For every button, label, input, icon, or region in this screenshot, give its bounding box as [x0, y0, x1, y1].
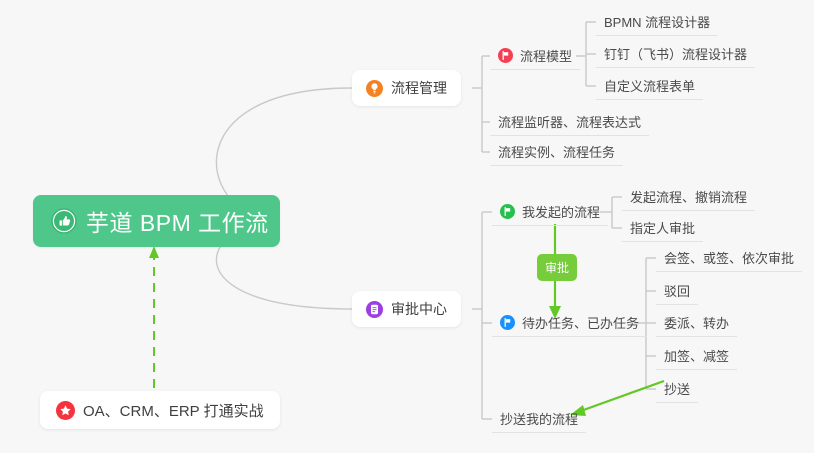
node-bpmn-designer[interactable]: BPMN 流程设计器 — [596, 8, 718, 36]
arrow-footnote-to-root — [149, 246, 159, 388]
node-custom-flow-form[interactable]: 自定义流程表单 — [596, 72, 703, 100]
root-label: 芋道 BPM 工作流 — [86, 204, 269, 238]
node-todo-done-tasks-label: 待办任务、已办任务 — [522, 313, 639, 332]
node-countersign-or-sequential[interactable]: 会签、或签、依次审批 — [656, 244, 802, 272]
node-dingtalk-feishu-designer[interactable]: 钉钉（飞书）流程设计器 — [596, 40, 755, 68]
node-countersign-or-sequential-label: 会签、或签、依次审批 — [664, 248, 794, 267]
badge-approve-label: 审批 — [545, 259, 569, 276]
node-delegate-transfer[interactable]: 委派、转办 — [656, 309, 737, 337]
lightbulb-icon — [366, 80, 383, 97]
node-reject[interactable]: 驳回 — [656, 277, 698, 305]
node-flow-instance-task[interactable]: 流程实例、流程任务 — [490, 138, 623, 166]
node-dingtalk-feishu-designer-label: 钉钉（飞书）流程设计器 — [604, 44, 747, 63]
node-add-remove-sign-label: 加签、减签 — [664, 346, 729, 365]
node-start-cancel-flow-label: 发起流程、撤销流程 — [630, 187, 747, 206]
node-flow-model[interactable]: 流程模型 — [490, 42, 580, 70]
node-cc-to-me-flows-label: 抄送我的流程 — [500, 409, 578, 428]
node-my-initiated-flows-label: 我发起的流程 — [522, 202, 600, 221]
node-approval-center[interactable]: 审批中心 — [352, 291, 461, 327]
flag-circle-icon — [498, 48, 513, 63]
node-todo-done-tasks[interactable]: 待办任务、已办任务 — [492, 309, 647, 337]
flag-circle-icon — [500, 315, 515, 330]
node-flow-listener-expression[interactable]: 流程监听器、流程表达式 — [490, 108, 649, 136]
root-node[interactable]: 芋道 BPM 工作流 — [33, 195, 280, 247]
star-circle-icon — [56, 401, 75, 420]
flag-circle-icon — [500, 204, 515, 219]
node-flow-model-label: 流程模型 — [520, 46, 572, 65]
node-assigned-approver-label: 指定人审批 — [630, 218, 695, 237]
node-cc[interactable]: 抄送 — [656, 375, 698, 403]
node-my-initiated-flows[interactable]: 我发起的流程 — [492, 198, 608, 226]
node-add-remove-sign[interactable]: 加签、减签 — [656, 342, 737, 370]
node-flow-management-label: 流程管理 — [391, 78, 447, 98]
node-cc-label: 抄送 — [664, 379, 690, 398]
node-start-cancel-flow[interactable]: 发起流程、撤销流程 — [622, 183, 755, 211]
node-reject-label: 驳回 — [664, 281, 690, 300]
node-oa-crm-erp-practice[interactable]: OA、CRM、ERP 打通实战 — [40, 391, 280, 429]
badge-approve: 审批 — [537, 254, 577, 281]
node-delegate-transfer-label: 委派、转办 — [664, 313, 729, 332]
node-custom-flow-form-label: 自定义流程表单 — [604, 76, 695, 95]
node-cc-to-me-flows[interactable]: 抄送我的流程 — [492, 405, 586, 433]
node-flow-management[interactable]: 流程管理 — [352, 70, 461, 106]
node-assigned-approver[interactable]: 指定人审批 — [622, 214, 703, 242]
thumbs-up-icon — [51, 208, 77, 234]
node-bpmn-designer-label: BPMN 流程设计器 — [604, 12, 710, 31]
clipboard-icon — [366, 301, 383, 318]
node-approval-center-label: 审批中心 — [391, 299, 447, 319]
mindmap-canvas: 芋道 BPM 工作流 流程管理 流程模型 BPMN 流程设计器 钉钉（飞书）流程 — [0, 0, 814, 453]
node-flow-listener-expression-label: 流程监听器、流程表达式 — [498, 112, 641, 131]
node-flow-instance-task-label: 流程实例、流程任务 — [498, 142, 615, 161]
node-oa-crm-erp-practice-label: OA、CRM、ERP 打通实战 — [83, 400, 264, 421]
